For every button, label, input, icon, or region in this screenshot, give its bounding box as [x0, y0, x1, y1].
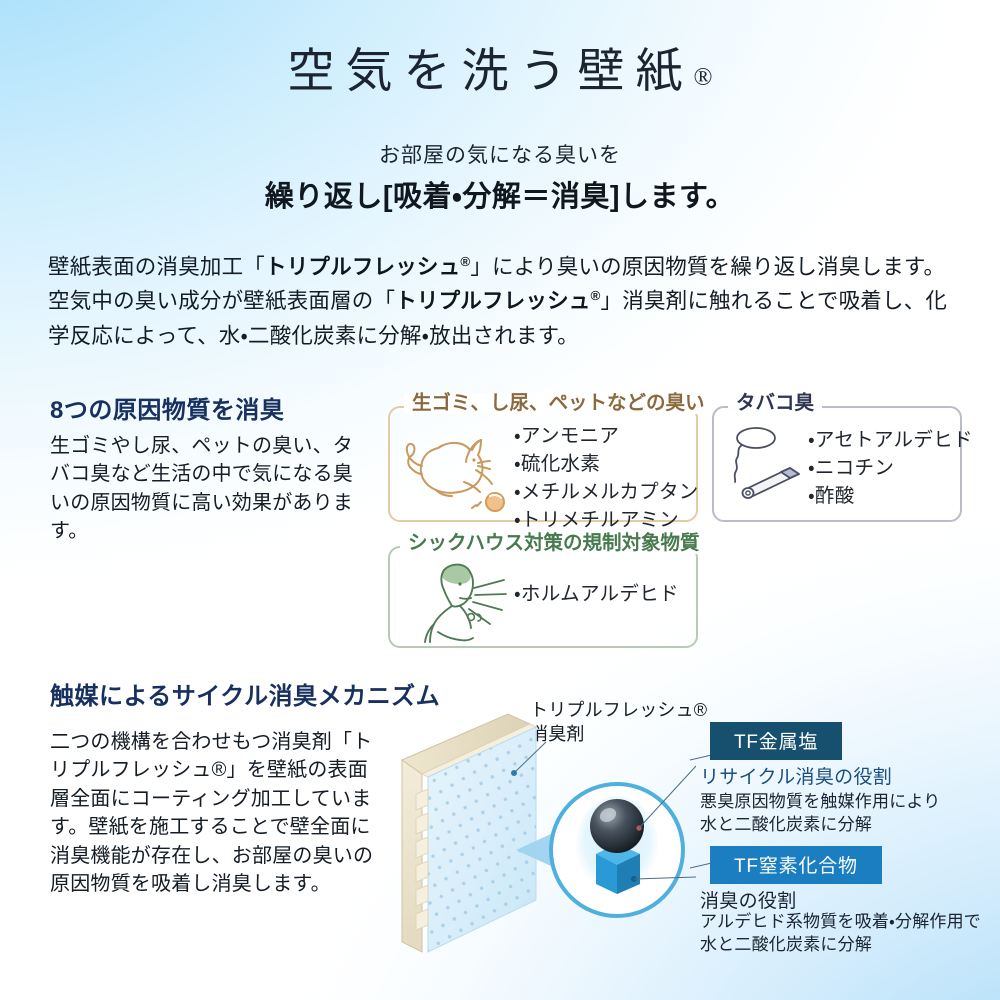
callout-body-line: 悪臭原因物質を触媒作用により — [700, 790, 940, 813]
odor-box-kitchen-legend: 生ゴミ、し尿、ペットなどの臭い — [404, 393, 713, 414]
lead-brand-1-registered-icon: ® — [460, 253, 470, 268]
lead-brand-2: トリプルフレッシュ — [395, 289, 590, 313]
lead-part-1: 壁紙表面の消臭加工「 — [48, 255, 265, 279]
lead-paragraph: 壁紙表面の消臭加工「トリプルフレッシュ®」により臭いの原因物質を繰り返し消臭しま… — [48, 250, 956, 354]
list-item: ・メチルメルカプタン — [514, 478, 699, 506]
hero-subtitle-block: お部屋の気になる臭いを 繰り返し[吸着・分解＝消臭]します。 — [0, 140, 1000, 219]
coughing-man-icon — [408, 554, 518, 644]
lead-brand-1: トリプルフレッシュ — [265, 255, 460, 279]
callout-body-tf-nitrogen-compound: アルデヒド系物質を吸着・分解作用で 水と二酸化炭素に分解 — [700, 910, 981, 957]
list-item: ・硫化水素 — [514, 450, 699, 478]
registered-trademark-icon: ® — [694, 64, 713, 91]
hero-header: 空気を洗う壁紙® — [0, 44, 1000, 100]
callout-body-line: 水と二酸化炭素に分解 — [700, 813, 940, 836]
list-item: ・アセトアルデヒド — [808, 426, 973, 454]
cat-icon — [398, 430, 516, 516]
page-title: 空気を洗う壁紙® — [0, 44, 1000, 100]
wallpaper-cross-section-diagram — [396, 694, 696, 980]
section1-heading: 8つの原因物質を消臭 — [50, 390, 284, 425]
lead-brand-2-registered-icon: ® — [591, 288, 601, 303]
section2-heading: 触媒によるサイクル消臭メカニズム — [50, 676, 440, 711]
callout-body-tf-metal-salt: 悪臭原因物質を触媒作用により 水と二酸化炭素に分解 — [700, 790, 940, 837]
odor-box-kitchen-items: ・アンモニア ・硫化水素 ・メチルメルカプタン ・トリメチルアミン — [514, 422, 699, 534]
odor-box-tobacco: タバコ臭 ・アセトアルデヒド ・ニコチン ・酢酸 — [712, 406, 962, 522]
page-title-text: 空気を洗う壁紙 — [288, 46, 694, 98]
callout-body-line: 水と二酸化炭素に分解 — [700, 933, 981, 956]
list-item: ・ホルムアルデヒド — [514, 580, 679, 608]
list-item: ・アンモニア — [514, 422, 699, 450]
odor-box-sickhouse-items: ・ホルムアルデヒド — [514, 580, 679, 608]
subtitle-large: 繰り返し[吸着・分解＝消臭]します。 — [0, 176, 1000, 220]
section1-body: 生ゴミやし尿、ペットの臭い、タバコ臭など生活の中で気になる臭いの原因物質に高い効… — [50, 432, 370, 546]
odor-box-kitchen: 生ゴミ、し尿、ペットなどの臭い — [388, 406, 698, 522]
callout-tag-tf-nitrogen-compound: TF窒素化合物 — [710, 846, 882, 884]
callout-title-tf-nitrogen-compound: 消臭の役割 — [700, 886, 797, 913]
callout-body-line: アルデヒド系物質を吸着・分解作用で — [700, 910, 981, 933]
list-item: ・ニコチン — [808, 454, 973, 482]
odor-box-sickhouse: シックハウス対策の規制対象物質 — [388, 546, 698, 648]
callout-title-tf-metal-salt: リサイクル消臭の役割 — [700, 762, 892, 789]
list-item: ・トリメチルアミン — [514, 506, 699, 534]
odor-box-sickhouse-legend: シックハウス対策の規制対象物質 — [400, 533, 708, 554]
callout-tag-tf-metal-salt: TF金属塩 — [710, 722, 842, 760]
odor-box-tobacco-legend: タバコ臭 — [728, 393, 822, 414]
page-root: 空気を洗う壁紙® お部屋の気になる臭いを 繰り返し[吸着・分解＝消臭]します。 … — [0, 0, 1000, 1000]
list-item: ・酢酸 — [808, 482, 973, 510]
odor-box-tobacco-items: ・アセトアルデヒド ・ニコチン ・酢酸 — [808, 426, 973, 510]
subtitle-small: お部屋の気になる臭いを — [0, 140, 1000, 172]
cigarette-icon — [720, 424, 812, 508]
section2-body: 二つの機構を合わせもつ消臭剤「トリプルフレッシュ®」を壁紙の表面層全面にコーティ… — [50, 728, 380, 898]
